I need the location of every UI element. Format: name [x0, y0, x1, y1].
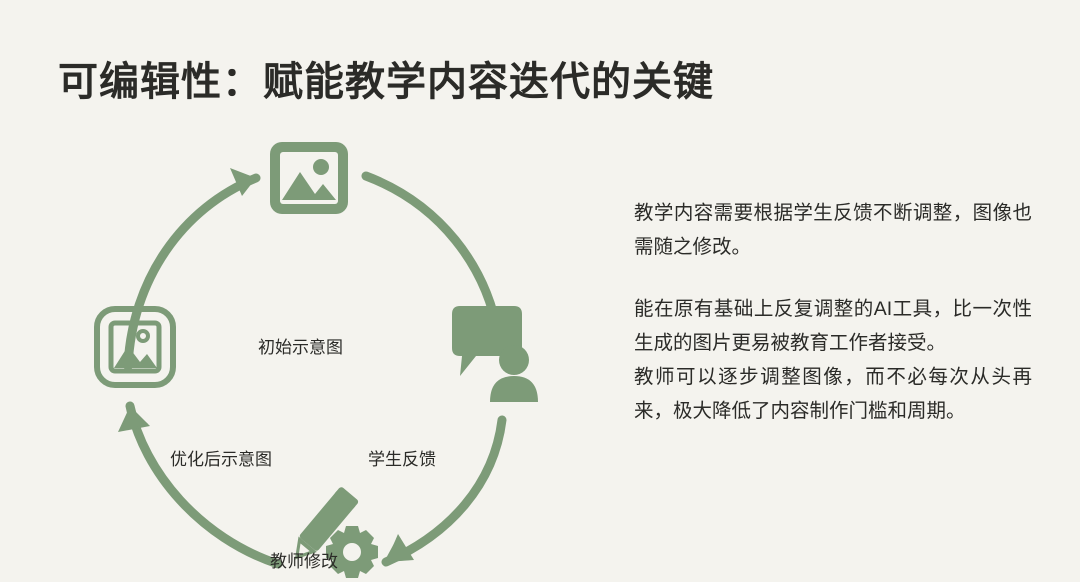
body-paragraph-2: 能在原有基础上反复调整的AI工具，比一次性生成的图片更易被教育工作者接受。 — [634, 292, 1032, 360]
body-paragraph-3: 教师可以逐步调整图像，而不必每次从头再来，极大降低了内容制作门槛和周期。 — [634, 360, 1032, 428]
cycle-node-label-initial: 初始示意图 — [258, 338, 343, 358]
cycle-node-label-feedback: 学生反馈 — [368, 450, 436, 470]
arrow-revise-to-optimized — [118, 406, 278, 564]
body-paragraph-1: 教学内容需要根据学生反馈不断调整，图像也需随之修改。 — [634, 196, 1032, 264]
feedback-chat-icon — [452, 306, 538, 402]
page-title: 可编辑性：赋能教学内容迭代的关键 — [58, 58, 714, 106]
cycle-node-label-revise: 教师修改 — [270, 552, 338, 572]
body-copy: 教学内容需要根据学生反馈不断调整，图像也需随之修改。 能在原有基础上反复调整的A… — [634, 196, 1032, 428]
slide-canvas: 可编辑性：赋能教学内容迭代的关键 — [0, 0, 1080, 582]
cycle-diagram: 初始示意图 学生反馈 教师修改 优化后示意图 — [70, 120, 590, 580]
image-filled-icon — [270, 142, 348, 214]
arrow-feedback-to-revise — [384, 420, 502, 562]
cycle-node-label-optimized: 优化后示意图 — [170, 450, 272, 470]
